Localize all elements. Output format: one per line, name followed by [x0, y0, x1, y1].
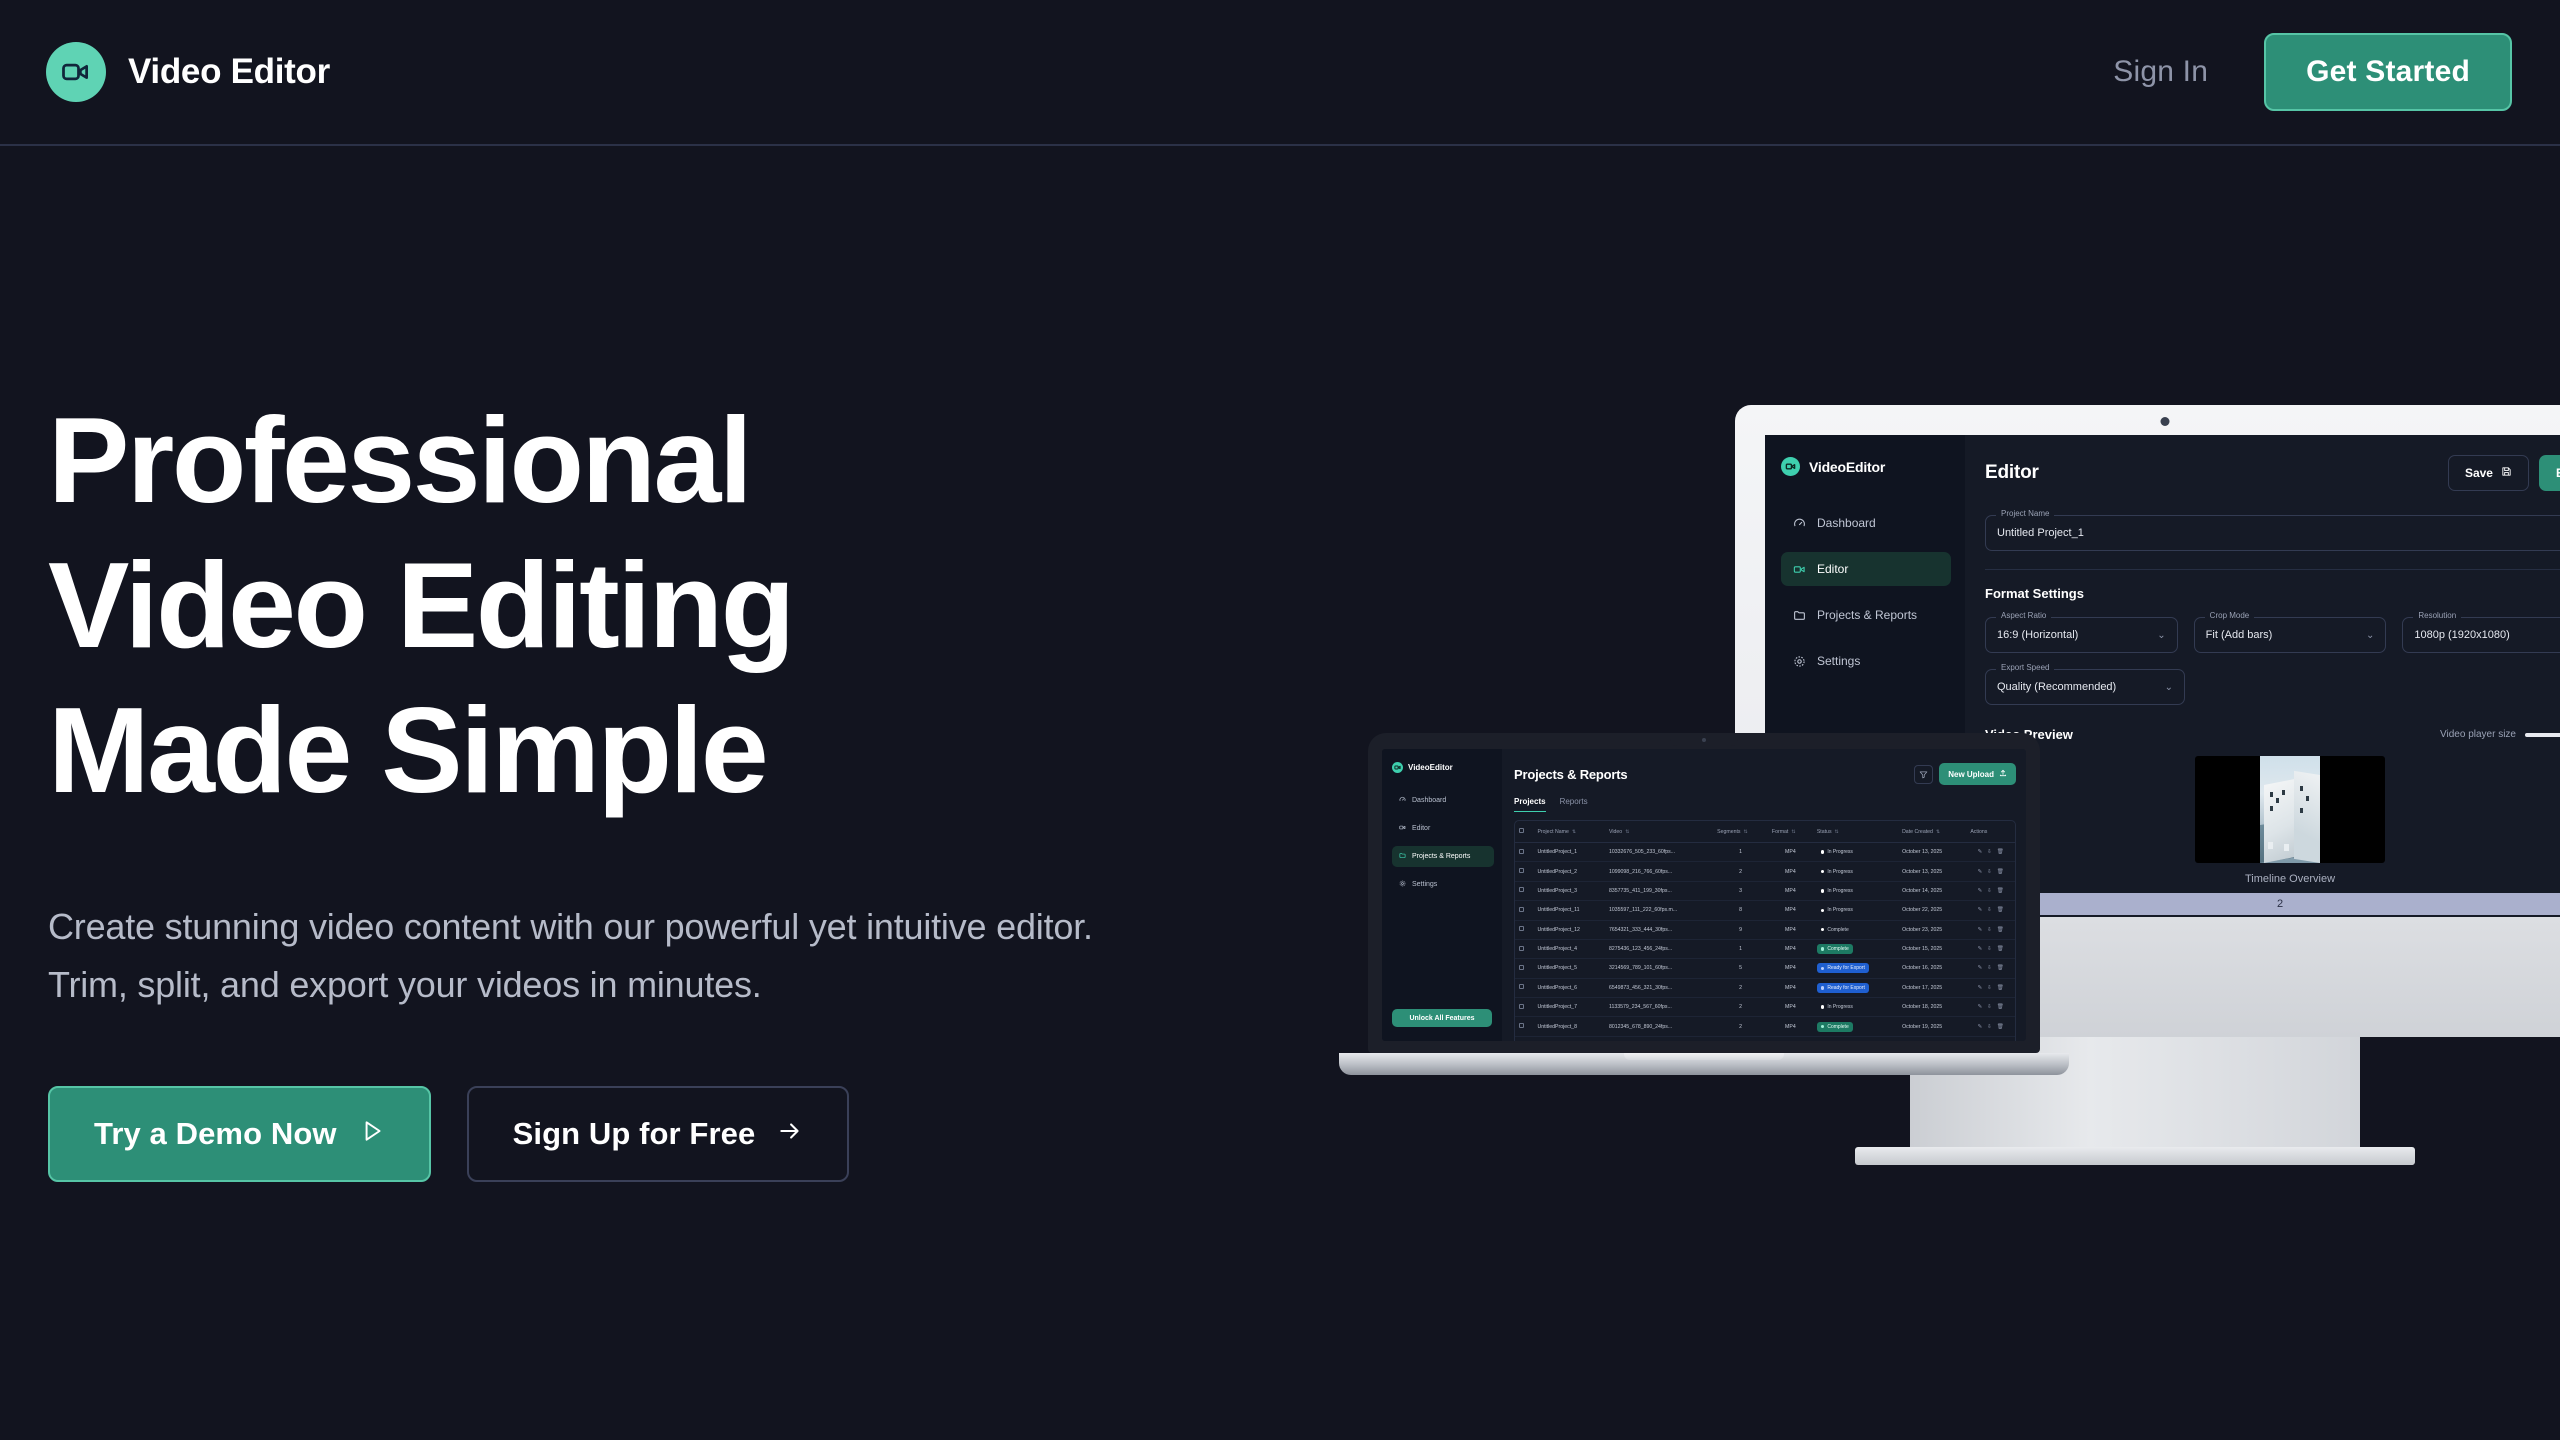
- video-frame-image: [2260, 756, 2320, 863]
- new-upload-label: New Upload: [1948, 770, 1994, 779]
- cell-format: MP4: [1768, 998, 1813, 1017]
- cell-project-name: UntitledProject_3: [1533, 881, 1605, 900]
- sidebar-label: Dashboard: [1817, 516, 1876, 530]
- projects-brand-name: VideoEditor: [1408, 763, 1453, 772]
- row-checkbox[interactable]: [1515, 862, 1533, 881]
- cell-status: In Progress: [1813, 881, 1898, 900]
- cell-status: Ready for Export: [1813, 959, 1898, 978]
- cell-date-created: October 16, 2025: [1898, 959, 1966, 978]
- row-checkbox[interactable]: [1515, 939, 1533, 958]
- editor-main: Editor Save Exp: [1965, 435, 2560, 917]
- download-icon[interactable]: ⇩: [1987, 985, 1992, 991]
- sidebar-label: Settings: [1817, 654, 1860, 668]
- cell-actions[interactable]: ✎⇩🗑: [1966, 901, 2015, 920]
- row-checkbox[interactable]: [1515, 920, 1533, 939]
- aspect-ratio-value: 16:9 (Horizontal): [1997, 629, 2078, 641]
- cell-date-created: October 17, 2025: [1898, 978, 1966, 997]
- save-label: Save: [2465, 466, 2493, 480]
- aspect-ratio-label: Aspect Ratio: [1996, 611, 2051, 620]
- cell-project-name: UntitledProject_4: [1533, 939, 1605, 958]
- column-header[interactable]: Segments⇅: [1713, 821, 1768, 843]
- laptop-screen: VideoEditor Dashboard Editor: [1382, 749, 2026, 1041]
- cell-status: In Progress: [1813, 901, 1898, 920]
- edit-icon[interactable]: ✎: [1978, 849, 1983, 855]
- delete-icon[interactable]: 🗑: [1997, 1004, 2004, 1010]
- sidebar-label: Projects & Reports: [1817, 608, 1917, 622]
- export-speed-label: Export Speed: [1996, 663, 2054, 672]
- delete-icon[interactable]: 🗑: [1997, 907, 2004, 913]
- download-icon[interactable]: ⇩: [1987, 946, 1992, 952]
- download-icon[interactable]: ⇩: [1987, 1024, 1992, 1030]
- cell-project-name: UntitledProject_1: [1533, 843, 1605, 862]
- monitor-stand-base: [1855, 1147, 2415, 1165]
- projects-sidebar: VideoEditor Dashboard Editor: [1382, 749, 1502, 1041]
- crop-mode-label: Crop Mode: [2205, 611, 2255, 620]
- cell-project-name: UntitledProject_5: [1533, 959, 1605, 978]
- video-camera-icon: [1793, 563, 1806, 576]
- cell-status: In Progress: [1813, 862, 1898, 881]
- cell-format: MP4: [1768, 862, 1813, 881]
- player-size-control[interactable]: Video player size: [2440, 729, 2560, 740]
- sidebar-label: Editor: [1412, 825, 1430, 832]
- cell-actions[interactable]: ✎⇩🗑: [1966, 1036, 2015, 1041]
- table-row[interactable]: UntitledProject_127654321_333_444_30fps.…: [1515, 920, 2015, 939]
- projects-table: Project Name⇅Video⇅Segments⇅Format⇅Statu…: [1515, 821, 2015, 1041]
- cell-video: 8275436_123_456_24fps...: [1605, 939, 1713, 958]
- edit-icon[interactable]: ✎: [1978, 1024, 1983, 1030]
- sidebar-item-editor[interactable]: Editor: [1392, 818, 1494, 839]
- download-icon[interactable]: ⇩: [1987, 965, 1992, 971]
- timeline-overview-label: Timeline Overview: [1985, 873, 2560, 885]
- delete-icon[interactable]: 🗑: [1997, 927, 2004, 933]
- edit-icon[interactable]: ✎: [1978, 946, 1983, 952]
- projects-app: VideoEditor Dashboard Editor: [1382, 749, 2026, 1041]
- divider: [1985, 569, 2560, 570]
- cell-segments: 4: [1713, 1036, 1768, 1041]
- project-name-label: Project Name: [1996, 509, 2054, 518]
- download-icon[interactable]: ⇩: [1987, 907, 1992, 913]
- crop-mode-value: Fit (Add bars): [2206, 629, 2273, 641]
- cell-date-created: October 15, 2025: [1898, 939, 1966, 958]
- save-button[interactable]: Save: [2448, 455, 2529, 491]
- player-size-slider[interactable]: [2525, 733, 2560, 737]
- gauge-icon: [1399, 796, 1406, 805]
- video-camera-icon: [1781, 457, 1800, 476]
- laptop-lid: VideoEditor Dashboard Editor: [1368, 733, 2040, 1053]
- laptop-base: [1339, 1053, 2069, 1075]
- cell-project-name: UntitledProject_2: [1533, 862, 1605, 881]
- project-name-field[interactable]: Project Name Untitled Project_1: [1985, 515, 2560, 551]
- row-checkbox[interactable]: [1515, 1036, 1533, 1041]
- chevron-down-icon: ⌄: [2157, 630, 2165, 641]
- floppy-disk-icon: [2501, 466, 2512, 480]
- editor-header: Editor Save Exp: [1985, 455, 2560, 491]
- select-all-checkbox[interactable]: [1519, 828, 1524, 833]
- cell-actions[interactable]: ✎⇩🗑: [1966, 939, 2015, 958]
- sidebar-item-settings[interactable]: Settings: [1781, 644, 1951, 678]
- sidebar-label: Settings: [1412, 881, 1437, 888]
- column-header[interactable]: [1515, 821, 1533, 843]
- laptop-trackpad-notch: [1624, 1053, 1784, 1060]
- landing-page: Video Editor Sign In Get Started Profess…: [0, 0, 2560, 1440]
- sidebar-label: Editor: [1817, 562, 1848, 576]
- chevron-down-icon: ⌄: [2165, 682, 2173, 693]
- projects-header-actions: New Upload: [1914, 763, 2016, 785]
- column-header[interactable]: Project Name⇅: [1533, 821, 1605, 843]
- delete-icon[interactable]: 🗑: [1997, 1024, 2004, 1030]
- format-settings-title: Format Settings: [1985, 586, 2560, 601]
- column-header[interactable]: Date Created⇅: [1898, 821, 1966, 843]
- video-camera-icon: [1399, 824, 1406, 833]
- resolution-label: Resolution: [2413, 611, 2461, 620]
- column-header[interactable]: Actions: [1966, 821, 2015, 843]
- table-row[interactable]: UntitledProject_53214569_789_101_60fps..…: [1515, 959, 2015, 978]
- projects-header: Projects & Reports New Upload: [1514, 763, 2016, 785]
- cell-actions[interactable]: ✎⇩🗑: [1966, 843, 2015, 862]
- cell-video: 1099098_216_766_60fps...: [1605, 862, 1713, 881]
- delete-icon[interactable]: 🗑: [1997, 849, 2004, 855]
- video-camera-icon: [1392, 762, 1403, 773]
- edit-icon[interactable]: ✎: [1978, 985, 1983, 991]
- editor-brand-name: VideoEditor: [1809, 459, 1885, 475]
- delete-icon[interactable]: 🗑: [1997, 869, 2004, 875]
- cell-actions[interactable]: ✎⇩🗑: [1966, 881, 2015, 900]
- cell-format: MP4: [1768, 881, 1813, 900]
- tab-projects[interactable]: Projects: [1514, 797, 1546, 812]
- monitor-camera-icon: [2161, 417, 2170, 426]
- cell-segments: 3: [1713, 881, 1768, 900]
- table-row[interactable]: UntitledProject_66549873_456_321_30fps..…: [1515, 978, 2015, 997]
- resolution-value: 1080p (1920x1080): [2414, 629, 2509, 641]
- table-row[interactable]: UntitledProject_48275436_123_456_24fps..…: [1515, 939, 2015, 958]
- projects-tabs: Projects Reports: [1514, 797, 2016, 812]
- cell-project-name: UntitledProject_12: [1533, 920, 1605, 939]
- projects-table-wrapper: Project Name⇅Video⇅Segments⇅Format⇅Statu…: [1514, 820, 2016, 1041]
- cell-status: In Progress: [1813, 998, 1898, 1017]
- column-header[interactable]: Status⇅: [1813, 821, 1898, 843]
- cell-date-created: October 13, 2025: [1898, 843, 1966, 862]
- table-row[interactable]: UntitledProject_111035597_111_222_60fps.…: [1515, 901, 2015, 920]
- sidebar-item-dashboard[interactable]: Dashboard: [1392, 790, 1494, 811]
- cell-format: MP4: [1768, 1017, 1813, 1036]
- delete-icon[interactable]: 🗑: [1997, 888, 2004, 894]
- edit-icon[interactable]: ✎: [1978, 907, 1983, 913]
- tab-reports[interactable]: Reports: [1560, 797, 1588, 812]
- cell-video: 1133579_234_567_60fps...: [1605, 998, 1713, 1017]
- export-button[interactable]: Exp: [2539, 455, 2560, 491]
- cell-project-name: UntitledProject_11: [1533, 901, 1605, 920]
- projects-main: Projects & Reports New Upload: [1502, 749, 2026, 1041]
- folder-icon: [1399, 852, 1406, 861]
- building-main: [2264, 779, 2294, 863]
- projects-app-brand: VideoEditor: [1392, 762, 1494, 773]
- project-name-value: Untitled Project_1: [1997, 527, 2084, 539]
- column-header[interactable]: Format⇅: [1768, 821, 1813, 843]
- cell-video: 1035597_111_222_60fps.m...: [1605, 901, 1713, 920]
- sidebar-item-projects-reports[interactable]: Projects & Reports: [1781, 598, 1951, 632]
- cell-segments: 1: [1713, 939, 1768, 958]
- cell-date-created: October 14, 2025: [1898, 881, 1966, 900]
- row-checkbox[interactable]: [1515, 843, 1533, 862]
- crop-mode-select[interactable]: Crop Mode Fit (Add bars) ⌄: [2194, 617, 2387, 653]
- cell-status: Ready for Export: [1813, 1036, 1898, 1041]
- filter-icon[interactable]: [1914, 765, 1933, 784]
- delete-icon[interactable]: 🗑: [1997, 985, 2004, 991]
- cell-video: 3214569_789_101_60fps...: [1605, 959, 1713, 978]
- cell-format: MP4: [1768, 939, 1813, 958]
- table-row[interactable]: UntitledProject_88012345_678_890_24fps..…: [1515, 1017, 2015, 1036]
- cell-video: 10332676_505_233_60fps...: [1605, 843, 1713, 862]
- cell-date-created: October 20, 2025: [1898, 1036, 1966, 1041]
- row-checkbox[interactable]: [1515, 959, 1533, 978]
- sidebar-item-settings[interactable]: Settings: [1392, 874, 1494, 895]
- laptop-camera-icon: [1702, 738, 1706, 742]
- row-checkbox[interactable]: [1515, 881, 1533, 900]
- format-settings-row-1: Aspect Ratio 16:9 (Horizontal) ⌄ Crop Mo…: [1985, 601, 2560, 653]
- column-header[interactable]: Video⇅: [1605, 821, 1713, 843]
- cell-segments: 1: [1713, 843, 1768, 862]
- row-checkbox[interactable]: [1515, 978, 1533, 997]
- table-row[interactable]: UntitledProject_38357735_411_199_30fps..…: [1515, 881, 2015, 900]
- download-icon[interactable]: ⇩: [1987, 849, 1992, 855]
- sidebar-item-dashboard[interactable]: Dashboard: [1781, 506, 1951, 540]
- cell-segments: 9: [1713, 920, 1768, 939]
- cell-video: 2345678_123_456_60fps...: [1605, 1036, 1713, 1041]
- cell-segments: 2: [1713, 978, 1768, 997]
- laptop-mockup: VideoEditor Dashboard Editor: [1368, 733, 2040, 1075]
- edit-icon[interactable]: ✎: [1978, 927, 1983, 933]
- sidebar-item-editor[interactable]: Editor: [1781, 552, 1951, 586]
- cell-segments: 2: [1713, 862, 1768, 881]
- cell-video: 6549873_456_321_30fps...: [1605, 978, 1713, 997]
- download-icon[interactable]: ⇩: [1987, 927, 1992, 933]
- video-preview-player[interactable]: [2195, 756, 2385, 863]
- table-body: UntitledProject_110332676_505_233_60fps.…: [1515, 843, 2015, 1042]
- cell-format: MP4: [1768, 959, 1813, 978]
- editor-header-actions: Save Exp: [2448, 455, 2560, 491]
- unlock-all-features-button[interactable]: Unlock All Features: [1392, 1009, 1492, 1027]
- cell-date-created: October 22, 2025: [1898, 901, 1966, 920]
- table-row[interactable]: UntitledProject_92345678_123_456_60fps..…: [1515, 1036, 2015, 1041]
- gear-icon: [1399, 880, 1406, 889]
- cell-video: 8012345_678_890_24fps...: [1605, 1017, 1713, 1036]
- cell-actions[interactable]: ✎⇩🗑: [1966, 862, 2015, 881]
- video-preview-header: Video Preview Video player size: [1985, 727, 2560, 742]
- cell-project-name: UntitledProject_9: [1533, 1036, 1605, 1041]
- row-checkbox[interactable]: [1515, 998, 1533, 1017]
- cell-actions[interactable]: ✎⇩🗑: [1966, 1017, 2015, 1036]
- cell-format: MP4: [1768, 901, 1813, 920]
- delete-icon[interactable]: 🗑: [1997, 965, 2004, 971]
- export-speed-select[interactable]: Export Speed Quality (Recommended) ⌄: [1985, 669, 2185, 705]
- editor-page-title: Editor: [1985, 462, 2039, 484]
- delete-icon[interactable]: 🗑: [1997, 946, 2004, 952]
- edit-icon[interactable]: ✎: [1978, 965, 1983, 971]
- cell-status: Complete: [1813, 939, 1898, 958]
- resolution-select[interactable]: Resolution 1080p (1920x1080) ⌄: [2402, 617, 2560, 653]
- row-checkbox[interactable]: [1515, 1017, 1533, 1036]
- cell-date-created: October 18, 2025: [1898, 998, 1966, 1017]
- new-upload-button[interactable]: New Upload: [1939, 763, 2016, 785]
- cell-actions[interactable]: ✎⇩🗑: [1966, 959, 2015, 978]
- cell-actions[interactable]: ✎⇩🗑: [1966, 920, 2015, 939]
- aspect-ratio-select[interactable]: Aspect Ratio 16:9 (Horizontal) ⌄: [1985, 617, 2178, 653]
- chevron-down-icon: ⌄: [2366, 630, 2374, 641]
- table-row[interactable]: UntitledProject_71133579_234_567_60fps..…: [1515, 998, 2015, 1017]
- cell-status: In Progress: [1813, 843, 1898, 862]
- export-speed-value: Quality (Recommended): [1997, 681, 2116, 693]
- download-icon[interactable]: ⇩: [1987, 869, 1992, 875]
- format-settings-row-2: Export Speed Quality (Recommended) ⌄: [1985, 653, 2560, 705]
- cell-project-name: UntitledProject_8: [1533, 1017, 1605, 1036]
- device-mockups: VideoEditor Dashboard: [0, 0, 2560, 1440]
- building-right: [2294, 771, 2320, 863]
- download-icon[interactable]: ⇩: [1987, 888, 1992, 894]
- folder-icon: [1793, 609, 1806, 622]
- sidebar-item-projects-reports[interactable]: Projects & Reports: [1392, 846, 1494, 867]
- edit-icon[interactable]: ✎: [1978, 888, 1983, 894]
- player-size-label: Video player size: [2440, 729, 2516, 740]
- cell-format: MP4: [1768, 843, 1813, 862]
- cell-status: Complete: [1813, 1017, 1898, 1036]
- cell-date-created: October 23, 2025: [1898, 920, 1966, 939]
- cell-date-created: October 13, 2025: [1898, 862, 1966, 881]
- cell-status: Complete: [1813, 920, 1898, 939]
- cell-actions[interactable]: ✎⇩🗑: [1966, 998, 2015, 1017]
- cell-project-name: UntitledProject_7: [1533, 998, 1605, 1017]
- edit-icon[interactable]: ✎: [1978, 1004, 1983, 1010]
- gear-icon: [1793, 655, 1806, 668]
- cell-video: 8357735_411_199_30fps...: [1605, 881, 1713, 900]
- upload-icon: [1999, 769, 2007, 779]
- table-row[interactable]: UntitledProject_110332676_505_233_60fps.…: [1515, 843, 2015, 862]
- editor-app-brand: VideoEditor: [1781, 457, 1951, 476]
- cell-segments: 8: [1713, 901, 1768, 920]
- table-header-row: Project Name⇅Video⇅Segments⇅Format⇅Statu…: [1515, 821, 2015, 843]
- gauge-icon: [1793, 517, 1806, 530]
- row-checkbox[interactable]: [1515, 901, 1533, 920]
- cell-format: MP4: [1768, 978, 1813, 997]
- cell-project-name: UntitledProject_6: [1533, 978, 1605, 997]
- cell-segments: 5: [1713, 959, 1768, 978]
- table-row[interactable]: UntitledProject_21099098_216_766_60fps..…: [1515, 862, 2015, 881]
- cell-segments: 2: [1713, 1017, 1768, 1036]
- cell-actions[interactable]: ✎⇩🗑: [1966, 978, 2015, 997]
- cell-date-created: October 19, 2025: [1898, 1017, 1966, 1036]
- download-icon[interactable]: ⇩: [1987, 1004, 1992, 1010]
- timeline-bar[interactable]: 2: [1965, 893, 2560, 915]
- cell-video: 7654321_333_444_30fps...: [1605, 920, 1713, 939]
- cell-format: MP4: [1768, 1036, 1813, 1041]
- sidebar-label: Projects & Reports: [1412, 853, 1470, 860]
- cell-segments: 2: [1713, 998, 1768, 1017]
- edit-icon[interactable]: ✎: [1978, 869, 1983, 875]
- cell-status: Ready for Export: [1813, 978, 1898, 997]
- cell-format: MP4: [1768, 920, 1813, 939]
- sidebar-label: Dashboard: [1412, 797, 1446, 804]
- projects-page-title: Projects & Reports: [1514, 767, 1627, 782]
- export-label: Exp: [2556, 466, 2560, 480]
